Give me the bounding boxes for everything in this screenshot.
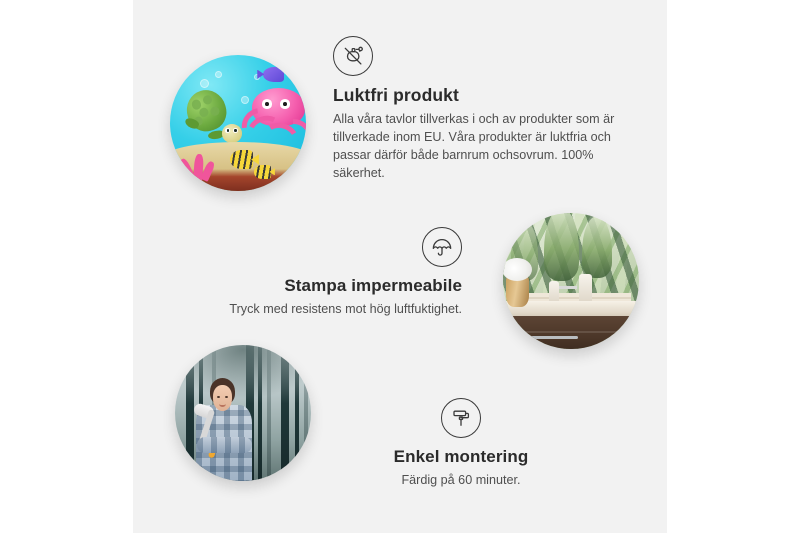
product-photo-bathroom-leaves (503, 213, 639, 349)
feature-description: Tryck med resistens mot hög luftfuktighe… (200, 301, 462, 319)
wooden-vanity (511, 316, 639, 349)
turtle-head (222, 124, 242, 142)
feature-easy-mounting: Enkel montering Färdig på 60 minuter. (330, 398, 592, 490)
folded-arms (197, 437, 252, 453)
product-photo-underwater-kids (170, 55, 306, 191)
feature-description: Färdig på 60 minuter. (330, 472, 592, 490)
white-flowers (503, 258, 532, 281)
coral (175, 137, 221, 183)
tree (295, 345, 299, 481)
tree (267, 345, 271, 481)
no-perfume-icon (333, 36, 373, 76)
woman-painter (191, 378, 267, 481)
feature-description: Alla våra tavlor tillverkas i och av pro… (333, 111, 629, 183)
feature-title: Stampa impermeabile (200, 276, 462, 296)
soap-bottle (579, 274, 592, 304)
feature-title: Enkel montering (330, 447, 592, 467)
paint-roller-icon (441, 398, 481, 438)
wallpaper-leaf (582, 216, 612, 279)
octopus (246, 88, 306, 151)
feature-odourless: Luktfri produkt Alla våra tavlor tillver… (333, 36, 629, 183)
feature-waterproof: Stampa impermeabile Tryck med resistens … (200, 227, 462, 319)
tree (304, 345, 308, 481)
feature-title: Luktfri produkt (333, 85, 629, 106)
tree (281, 345, 289, 481)
fish-yellow-small (254, 165, 270, 179)
fish-yellow (230, 150, 253, 169)
fish-purple (263, 67, 285, 82)
wallpaper-leaf (544, 213, 579, 281)
product-photo-painter-forest (175, 345, 311, 481)
umbrella-icon (422, 227, 462, 267)
product-feature-banner: Luktfri produkt Alla våra tavlor tillver… (0, 0, 800, 533)
